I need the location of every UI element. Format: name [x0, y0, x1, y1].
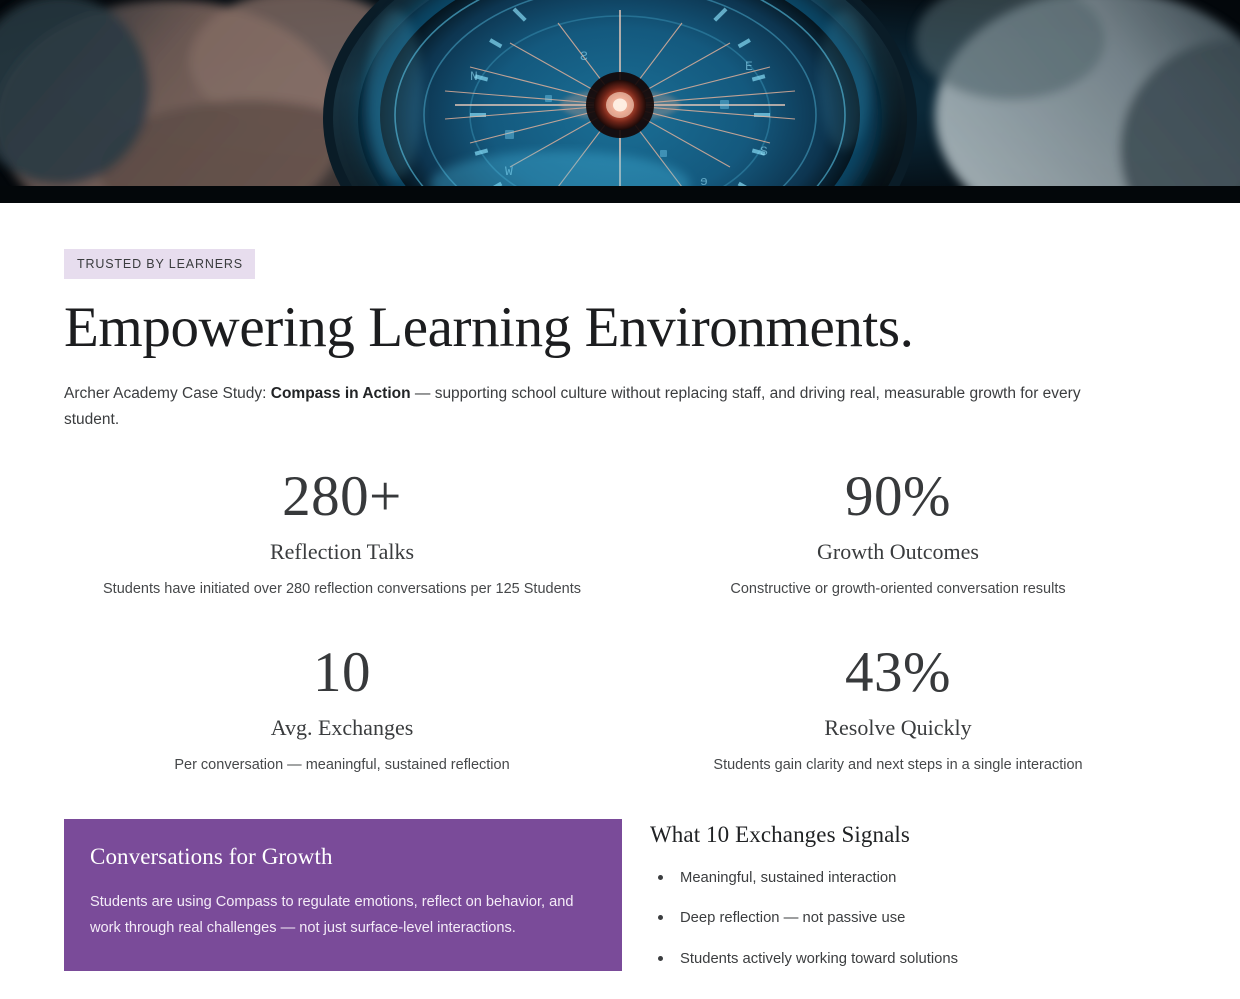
stat-value: 280+: [74, 467, 610, 527]
list-item: Students actively working toward solutio…: [650, 948, 1176, 972]
stat-label: Avg. Exchanges: [74, 715, 610, 741]
stat-label: Resolve Quickly: [630, 715, 1166, 741]
callout-body: Students are using Compass to regulate e…: [90, 889, 596, 942]
page-title: Empowering Learning Environments.: [64, 298, 1176, 357]
page-content: TRUSTED BY LEARNERS Empowering Learning …: [0, 203, 1240, 989]
stat-card: 90% Growth Outcomes Constructive or grow…: [620, 467, 1176, 643]
stats-grid: 280+ Reflection Talks Students have init…: [64, 467, 1176, 819]
signals-list: Meaningful, sustained interaction Deep r…: [650, 867, 1176, 972]
stat-card: 280+ Reflection Talks Students have init…: [64, 467, 620, 643]
signals-title: What 10 Exchanges Signals: [650, 821, 1176, 849]
bottom-panels: Conversations for Growth Students are us…: [64, 819, 1176, 989]
stat-value: 43%: [630, 643, 1166, 703]
bullet-icon: [658, 875, 663, 880]
stat-card: 43% Resolve Quickly Students gain clarit…: [620, 643, 1176, 819]
list-item: Deep reflection — not passive use: [650, 907, 1176, 931]
callout-title: Conversations for Growth: [90, 843, 596, 871]
stat-value: 10: [74, 643, 610, 703]
intro-paragraph: Archer Academy Case Study: Compass in Ac…: [64, 381, 1139, 434]
stat-description: Students gain clarity and next steps in …: [638, 752, 1158, 779]
stat-description: Constructive or growth-oriented conversa…: [638, 576, 1158, 603]
stat-description: Per conversation — meaningful, sustained…: [82, 752, 602, 779]
bullet-icon: [658, 915, 663, 920]
status-badge: TRUSTED BY LEARNERS: [64, 249, 255, 279]
stat-label: Growth Outcomes: [630, 539, 1166, 565]
intro-before: Archer Academy Case Study:: [64, 385, 271, 402]
list-item-label: Meaningful, sustained interaction: [680, 870, 896, 886]
stat-label: Reflection Talks: [74, 539, 610, 565]
bullet-icon: [658, 956, 663, 961]
intro-emphasis: Compass in Action: [271, 385, 411, 402]
hero-banner: N E S W Ƨ ɘ: [0, 0, 1240, 203]
list-item-label: Deep reflection — not passive use: [680, 910, 905, 926]
signals-panel: What 10 Exchanges Signals Meaningful, su…: [650, 819, 1176, 989]
callout-card: Conversations for Growth Students are us…: [64, 819, 622, 971]
stat-card: 10 Avg. Exchanges Per conversation — mea…: [64, 643, 620, 819]
compass-icon: N E S W Ƨ ɘ: [0, 0, 1240, 203]
list-item: Meaningful, sustained interaction: [650, 867, 1176, 891]
list-item-label: Students actively working toward solutio…: [680, 951, 958, 967]
stat-description: Students have initiated over 280 reflect…: [82, 576, 602, 603]
stat-value: 90%: [630, 467, 1166, 527]
